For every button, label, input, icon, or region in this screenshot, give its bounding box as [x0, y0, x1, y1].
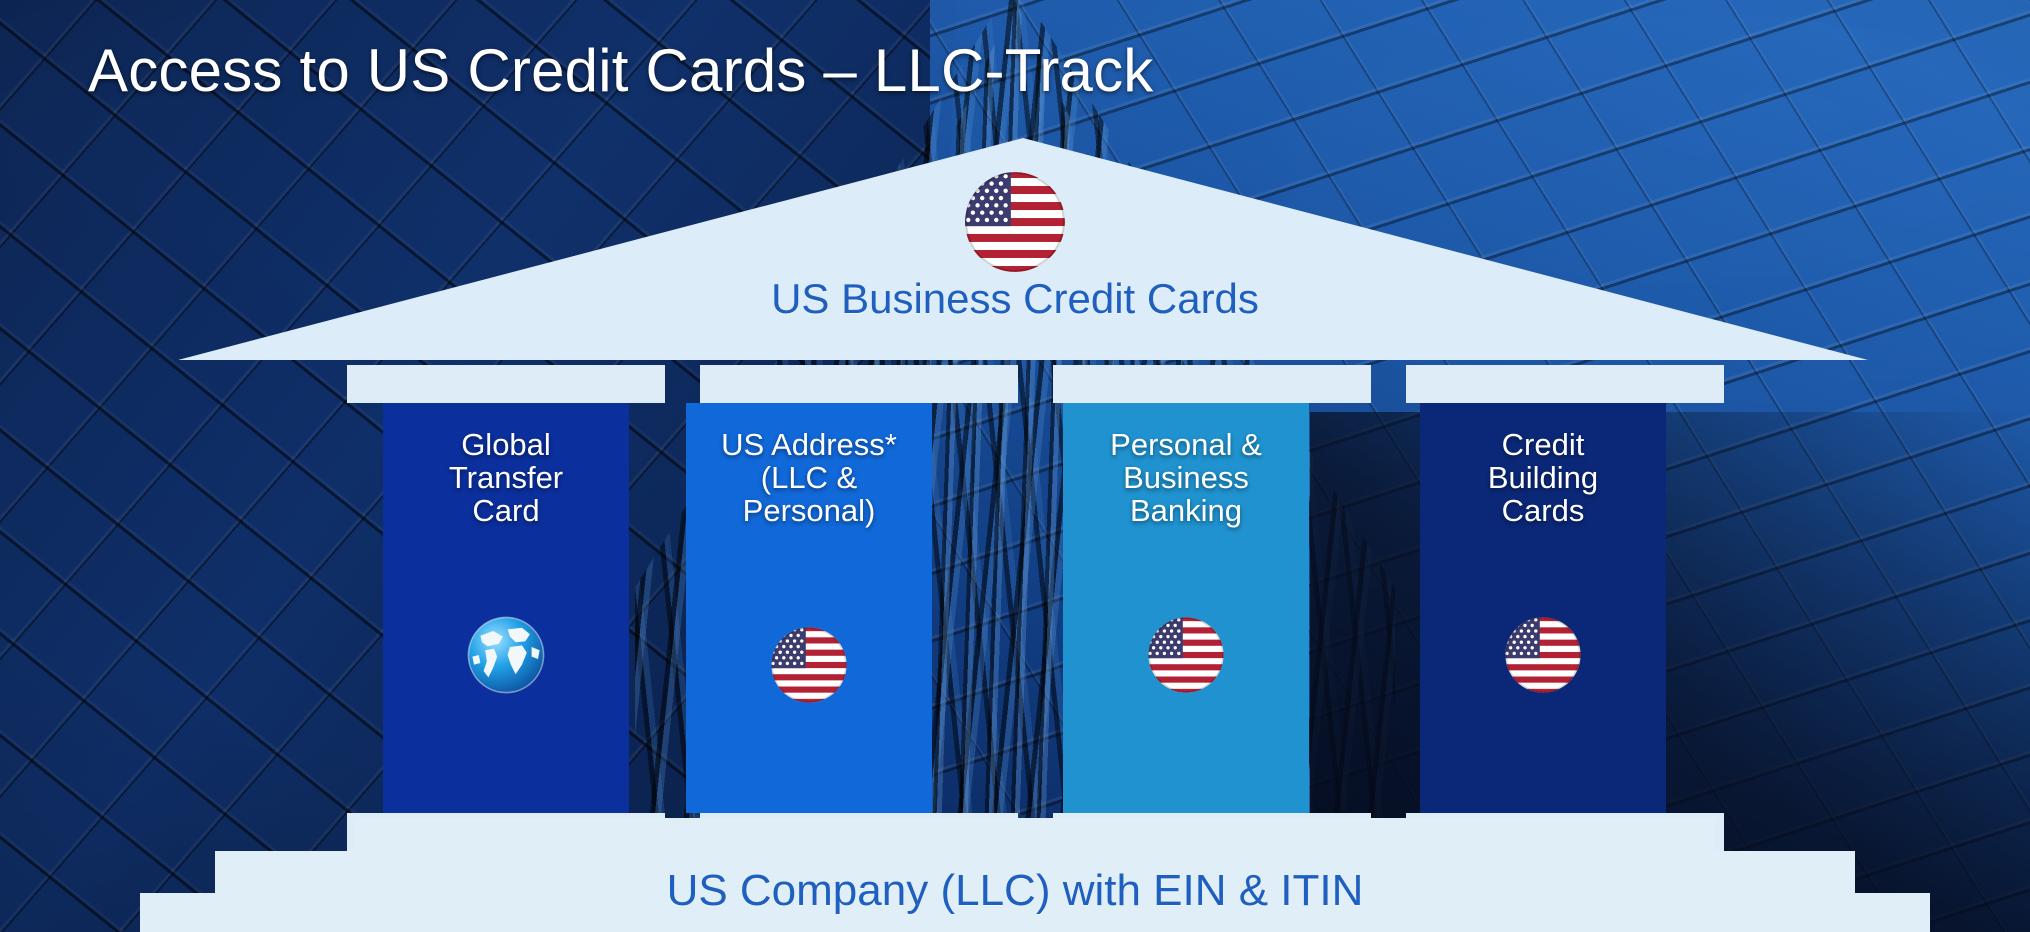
column-label-1-line-3: Card [383, 495, 629, 528]
column-label-2-line-3: Personal) [686, 495, 932, 528]
column-label-2-line-2: (LLC & [686, 462, 932, 495]
slide-canvas: Access to US Credit Cards – LLC-Track [0, 0, 2030, 932]
base-label: US Company (LLC) with EIN & ITIN [0, 866, 2030, 916]
column-capital-3 [1053, 365, 1371, 403]
column-us-address[interactable]: US Address* (LLC & Personal) [686, 403, 932, 813]
column-label-2-line-1: US Address* [686, 429, 932, 462]
base-step-top [355, 818, 1715, 854]
column-label-1-line-1: Global [383, 429, 629, 462]
temple-diagram: US Business Credit Cards Global Transfer… [0, 0, 2030, 932]
column-label-3-line-2: Business [1063, 462, 1309, 495]
column-label-3-line-3: Banking [1063, 495, 1309, 528]
column-label-4-line-3: Cards [1420, 495, 1666, 528]
column-capital-4 [1406, 365, 1724, 403]
column-label-4-line-2: Building [1420, 462, 1666, 495]
column-credit-building-cards[interactable]: Credit Building Cards [1420, 403, 1666, 813]
us-flag-circle-icon [769, 625, 849, 705]
us-flag-circle-icon [1146, 615, 1226, 695]
column-label-4-line-1: Credit [1420, 429, 1666, 462]
column-label-1: Global Transfer Card [383, 429, 629, 528]
column-label-3-line-1: Personal & [1063, 429, 1309, 462]
column-global-transfer-card[interactable]: Global Transfer Card [383, 403, 629, 813]
column-label-2: US Address* (LLC & Personal) [686, 429, 932, 528]
column-capital-1 [347, 365, 665, 403]
column-capital-2 [700, 365, 1018, 403]
column-label-4: Credit Building Cards [1420, 429, 1666, 528]
us-flag-circle-icon [963, 170, 1067, 274]
column-label-3: Personal & Business Banking [1063, 429, 1309, 528]
pediment-label: US Business Credit Cards [0, 275, 2030, 323]
globe-icon [466, 615, 546, 695]
us-flag-circle-icon [1503, 615, 1583, 695]
column-personal-business-banking[interactable]: Personal & Business Banking [1063, 403, 1309, 813]
column-label-1-line-2: Transfer [383, 462, 629, 495]
